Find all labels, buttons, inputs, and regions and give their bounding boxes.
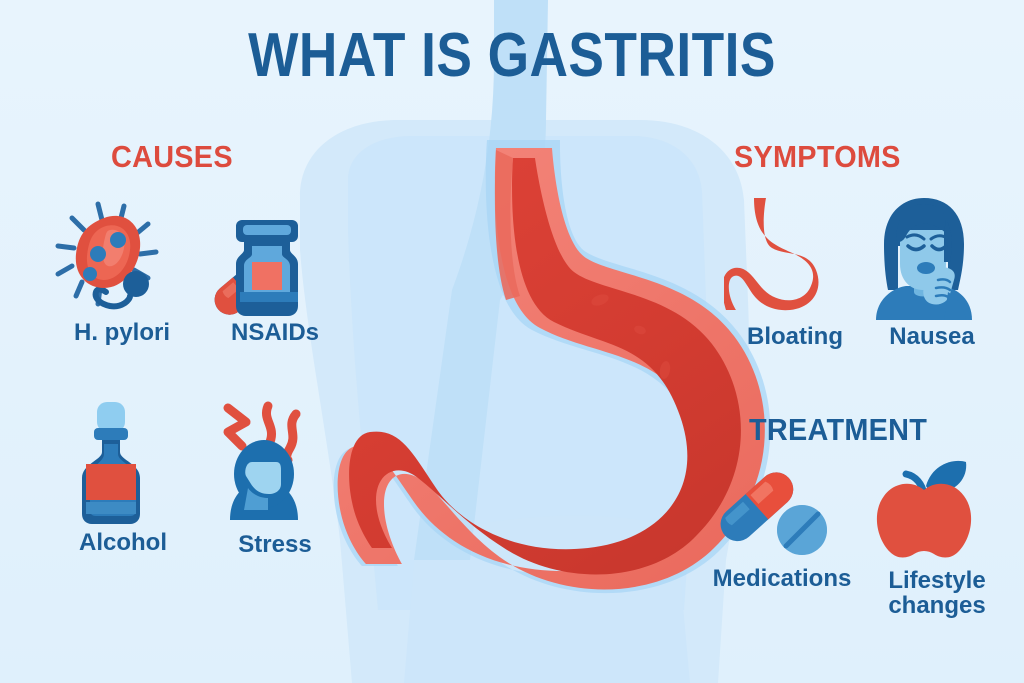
nauseous-woman-icon xyxy=(862,192,1002,320)
item-label: Medications xyxy=(700,566,864,591)
item-label: NSAIDs xyxy=(200,320,350,345)
page-title: WHAT IS GASTRITIS xyxy=(72,23,953,88)
item-alcohol[interactable]: Alcohol xyxy=(46,398,200,555)
capsule-tablet-icon xyxy=(700,458,864,562)
alcohol-bottle-icon xyxy=(46,398,200,526)
apple-icon xyxy=(862,452,1012,564)
bacteria-icon xyxy=(44,196,200,316)
item-label: Bloating xyxy=(724,324,866,349)
stressed-person-icon xyxy=(200,392,350,528)
item-h-pylori[interactable]: H. pylori xyxy=(44,196,200,345)
section-heading-treatment: TREATMENT xyxy=(749,412,927,448)
item-label: Alcohol xyxy=(46,530,200,555)
item-label: Nausea xyxy=(862,324,1002,349)
item-label: Stress xyxy=(200,532,350,557)
section-heading-causes: CAUSES xyxy=(111,139,233,175)
section-heading-symptoms: SYMPTOMS xyxy=(734,139,901,175)
item-label: Lifestyle changes xyxy=(862,568,1012,619)
item-medications[interactable]: Medications xyxy=(700,458,864,591)
item-nsaids[interactable]: NSAIDs xyxy=(200,196,350,345)
stomach-icon xyxy=(724,192,866,320)
item-lifestyle-changes[interactable]: Lifestyle changes xyxy=(862,452,1012,619)
item-stress[interactable]: Stress xyxy=(200,392,350,557)
item-bloating[interactable]: Bloating xyxy=(724,192,866,349)
item-nausea[interactable]: Nausea xyxy=(862,192,1002,349)
pill-bottle-icon xyxy=(200,196,350,316)
gastritis-infographic: WHAT IS GASTRITIS CAUSES SYMPTOMS TREATM… xyxy=(0,0,1024,683)
item-label: H. pylori xyxy=(44,320,200,345)
